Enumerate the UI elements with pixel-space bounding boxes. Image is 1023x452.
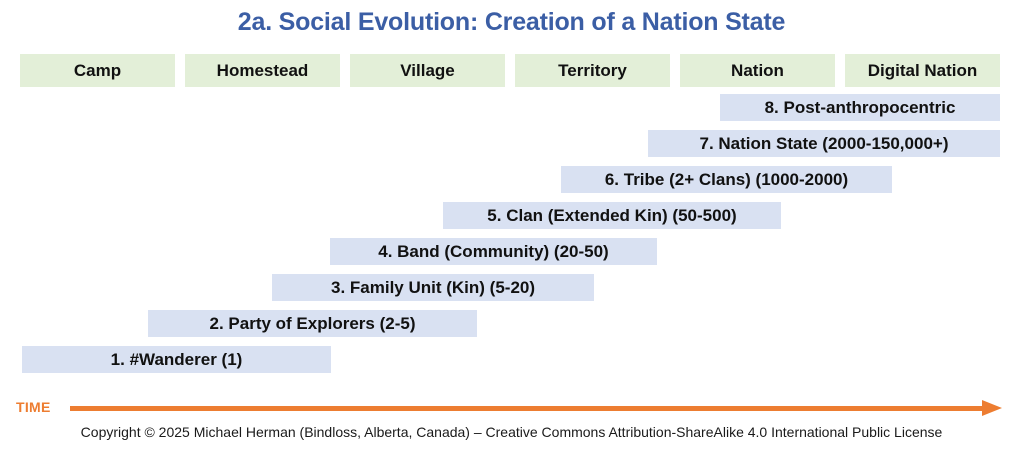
copyright-footer: Copyright © 2025 Michael Herman (Bindlos… bbox=[0, 424, 1023, 440]
evolution-step-bar-1: 1. #Wanderer (1) bbox=[22, 346, 331, 373]
evolution-step-label: 8. Post-anthropocentric bbox=[765, 98, 956, 118]
evolution-step-label: 1. #Wanderer (1) bbox=[111, 350, 243, 370]
stage-header-camp: Camp bbox=[20, 54, 175, 87]
time-axis: TIME bbox=[0, 398, 1023, 420]
time-axis-label: TIME bbox=[16, 399, 51, 415]
stage-header-village: Village bbox=[350, 54, 505, 87]
social-evolution-step-chart: 8. Post-anthropocentric7. Nation State (… bbox=[0, 94, 1023, 394]
evolution-step-bar-3: 3. Family Unit (Kin) (5-20) bbox=[272, 274, 594, 301]
stage-header-label: Camp bbox=[74, 61, 121, 81]
stage-header-label: Territory bbox=[558, 61, 627, 81]
page-title: 2a. Social Evolution: Creation of a Nati… bbox=[0, 8, 1023, 37]
evolution-step-bar-7: 7. Nation State (2000-150,000+) bbox=[648, 130, 1000, 157]
stage-header-territory: Territory bbox=[515, 54, 670, 87]
stage-header-label: Homestead bbox=[217, 61, 309, 81]
evolution-step-label: 3. Family Unit (Kin) (5-20) bbox=[331, 278, 535, 298]
stage-header-label: Digital Nation bbox=[868, 61, 978, 81]
stage-header-label: Nation bbox=[731, 61, 784, 81]
evolution-step-label: 2. Party of Explorers (2-5) bbox=[210, 314, 416, 334]
evolution-step-label: 5. Clan (Extended Kin) (50-500) bbox=[487, 206, 736, 226]
stage-header-digital-nation: Digital Nation bbox=[845, 54, 1000, 87]
evolution-step-bar-6: 6. Tribe (2+ Clans) (1000-2000) bbox=[561, 166, 892, 193]
arrow-right-icon bbox=[982, 400, 1002, 416]
evolution-step-label: 7. Nation State (2000-150,000+) bbox=[700, 134, 949, 154]
evolution-step-bar-4: 4. Band (Community) (20-50) bbox=[330, 238, 657, 265]
time-axis-line bbox=[70, 406, 985, 411]
evolution-step-bar-8: 8. Post-anthropocentric bbox=[720, 94, 1000, 121]
evolution-step-bar-2: 2. Party of Explorers (2-5) bbox=[148, 310, 477, 337]
stage-header-label: Village bbox=[400, 61, 455, 81]
evolution-step-label: 4. Band (Community) (20-50) bbox=[378, 242, 608, 262]
stage-header-row: CampHomesteadVillageTerritoryNationDigit… bbox=[20, 54, 1000, 87]
evolution-step-label: 6. Tribe (2+ Clans) (1000-2000) bbox=[605, 170, 848, 190]
evolution-step-bar-5: 5. Clan (Extended Kin) (50-500) bbox=[443, 202, 781, 229]
stage-header-nation: Nation bbox=[680, 54, 835, 87]
stage-header-homestead: Homestead bbox=[185, 54, 340, 87]
